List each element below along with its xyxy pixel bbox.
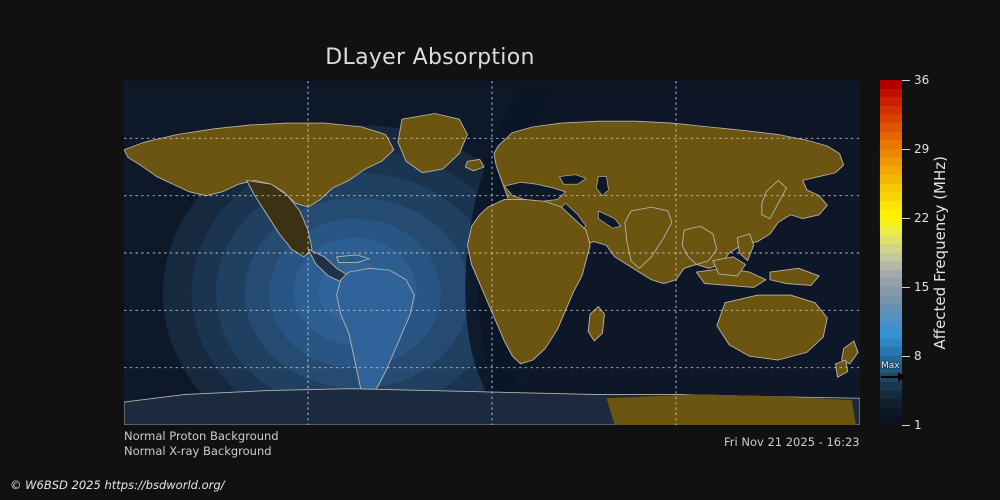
colorbar-segment <box>880 175 902 184</box>
note-proton: Normal Proton Background <box>124 429 279 444</box>
note-xray: Normal X-ray Background <box>124 444 279 459</box>
antarctica-lit <box>606 394 855 425</box>
colorbar-segment <box>880 149 902 158</box>
colorbar-segment <box>880 347 902 356</box>
colorbar-segment <box>880 166 902 175</box>
colorbar-segment <box>880 253 902 262</box>
colorbar-segment <box>880 209 902 218</box>
colorbar-title: Affected Frequency (MHz) <box>929 80 951 425</box>
max-arrow-head <box>898 372 905 382</box>
colorbar-segment <box>880 158 902 167</box>
colorbar-segment <box>880 201 902 210</box>
colorbar-segment <box>880 278 902 287</box>
colorbar-segment <box>880 391 902 400</box>
colorbar-segment <box>880 313 902 322</box>
colorbar-tick-label: 15 <box>914 281 929 293</box>
colorbar-segment <box>880 184 902 193</box>
colorbar-tick <box>902 218 910 219</box>
colorbar-segment <box>880 97 902 106</box>
world-map <box>124 81 860 425</box>
colorbar-tick <box>902 80 910 81</box>
colorbar-tick-label: 22 <box>914 212 929 224</box>
colorbar-segment <box>880 106 902 115</box>
colorbar-tick <box>902 287 910 288</box>
colorbar-tick-label: 36 <box>914 74 929 86</box>
timestamp: Fri Nov 21 2025 - 16:23 <box>724 435 860 449</box>
colorbar-tick <box>902 356 910 357</box>
background-notes: Normal Proton Background Normal X-ray Ba… <box>124 429 279 459</box>
colorbar-label: Affected Frequency (MHz) <box>931 156 949 350</box>
colorbar-segment <box>880 287 902 296</box>
colorbar-segment <box>880 227 902 236</box>
map-svg <box>124 81 860 425</box>
colorbar-segment <box>880 330 902 339</box>
colorbar-segment <box>880 123 902 132</box>
colorbar-segment <box>880 89 902 98</box>
colorbar-segment <box>880 140 902 149</box>
colorbar-tick-label: 8 <box>914 350 922 362</box>
colorbar-segment <box>880 416 902 425</box>
colorbar-segment <box>880 399 902 408</box>
max-marker: Max <box>880 363 904 387</box>
colorbar-segment <box>880 132 902 141</box>
colorbar-segment <box>880 244 902 253</box>
colorbar-tick <box>902 149 910 150</box>
colorbar-segment <box>880 339 902 348</box>
colorbar-segment <box>880 80 902 89</box>
colorbar-segment <box>880 304 902 313</box>
colorbar-segment <box>880 115 902 124</box>
colorbar-tick-label: 29 <box>914 143 929 155</box>
copyright: © W6BSD 2025 https://bsdworld.org/ <box>10 478 225 492</box>
colorbar-segment <box>880 192 902 201</box>
max-label: Max <box>881 362 900 371</box>
colorbar-segment <box>880 218 902 227</box>
colorbar-tick <box>902 425 910 426</box>
colorbar-segment <box>880 322 902 331</box>
colorbar-segment <box>880 296 902 305</box>
page-title: DLayer Absorption <box>0 45 860 70</box>
colorbar-segment <box>880 235 902 244</box>
colorbar-segment <box>880 270 902 279</box>
colorbar-tick-label: 1 <box>914 419 922 431</box>
colorbar-segment <box>880 261 902 270</box>
colorbar-segment <box>880 408 902 417</box>
